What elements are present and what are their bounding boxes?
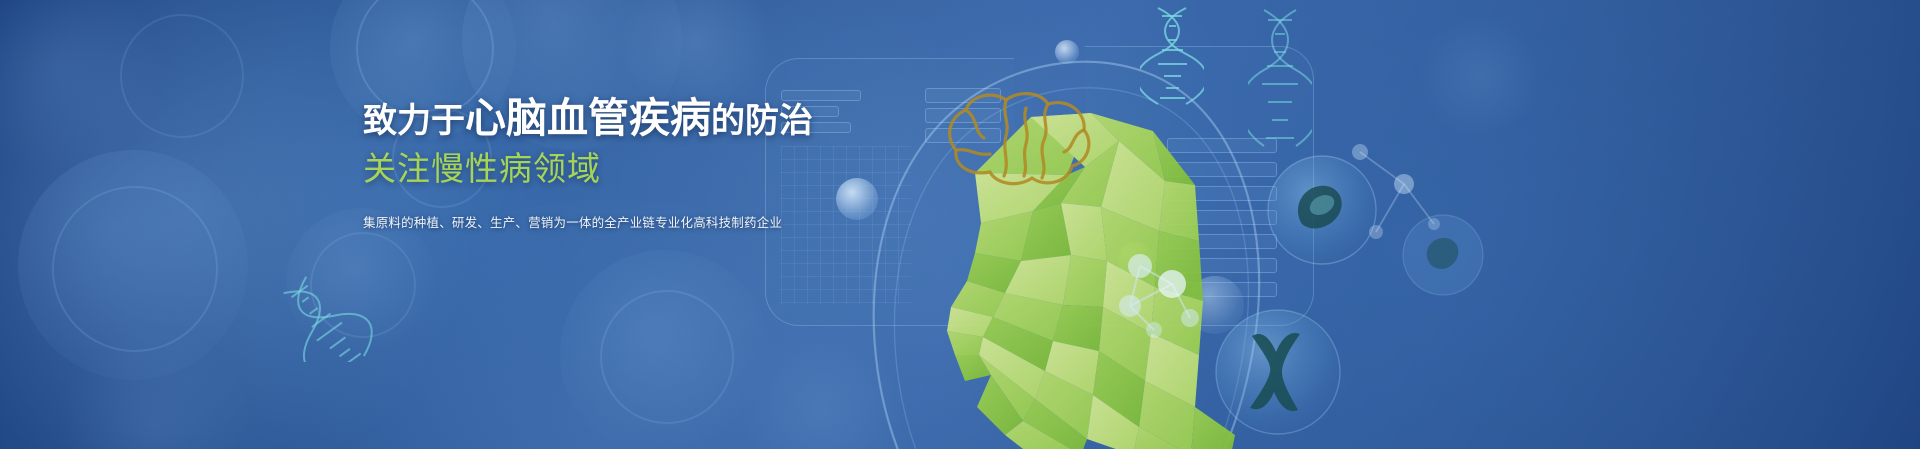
- hero-text-block: 致力于心脑血管疾病的防治 关注慢性病领域 集原料的种植、研发、生产、营销为一体的…: [363, 96, 833, 232]
- bokeh-circle: [1420, 16, 1540, 136]
- bokeh-circle: [1118, 242, 1154, 278]
- bokeh-circle: [1055, 40, 1079, 64]
- brain-icon: [940, 88, 1100, 196]
- cell-icon: [1212, 300, 1342, 449]
- cell-icon: [1398, 210, 1488, 300]
- dna-helix-icon: [1248, 8, 1312, 148]
- cell-icon: [1262, 150, 1382, 270]
- bokeh-circle: [600, 290, 734, 424]
- headline-emphasis: 心脑血管疾病: [465, 95, 711, 141]
- hud-panel-right: [1085, 46, 1315, 326]
- bokeh-circle: [60, 330, 250, 449]
- dna-helix-icon: [278, 252, 418, 362]
- page-subtitle: 关注慢性病领域: [363, 148, 833, 190]
- bokeh-circle: [560, 250, 770, 449]
- bokeh-circle: [310, 232, 416, 338]
- molecule-icon: [1100, 236, 1210, 346]
- bokeh-circle: [1186, 276, 1244, 334]
- bg-glow-bottom: [260, 200, 960, 449]
- low-poly-head-figure: [855, 55, 1285, 449]
- bokeh-circle: [836, 178, 878, 220]
- page-caption: 集原料的种植、研发、生产、营销为一体的全产业链专业化高科技制药企业: [363, 214, 833, 232]
- bokeh-circle: [18, 150, 248, 380]
- page-title: 致力于心脑血管疾病的防治: [363, 96, 833, 143]
- bokeh-circle: [52, 186, 218, 352]
- headline-suffix: 的防治: [711, 102, 813, 140]
- dna-helix-icon: [1140, 6, 1204, 106]
- bokeh-circle: [120, 14, 244, 138]
- bokeh-circle: [742, 330, 902, 449]
- bokeh-circle: [0, 0, 160, 170]
- molecule-icon: [1330, 128, 1450, 258]
- headline-prefix: 致力于: [363, 102, 465, 140]
- hero-banner: 致力于心脑血管疾病的防治 关注慢性病领域 集原料的种植、研发、生产、营销为一体的…: [0, 0, 1920, 449]
- head-halo-arc: [820, 20, 1280, 449]
